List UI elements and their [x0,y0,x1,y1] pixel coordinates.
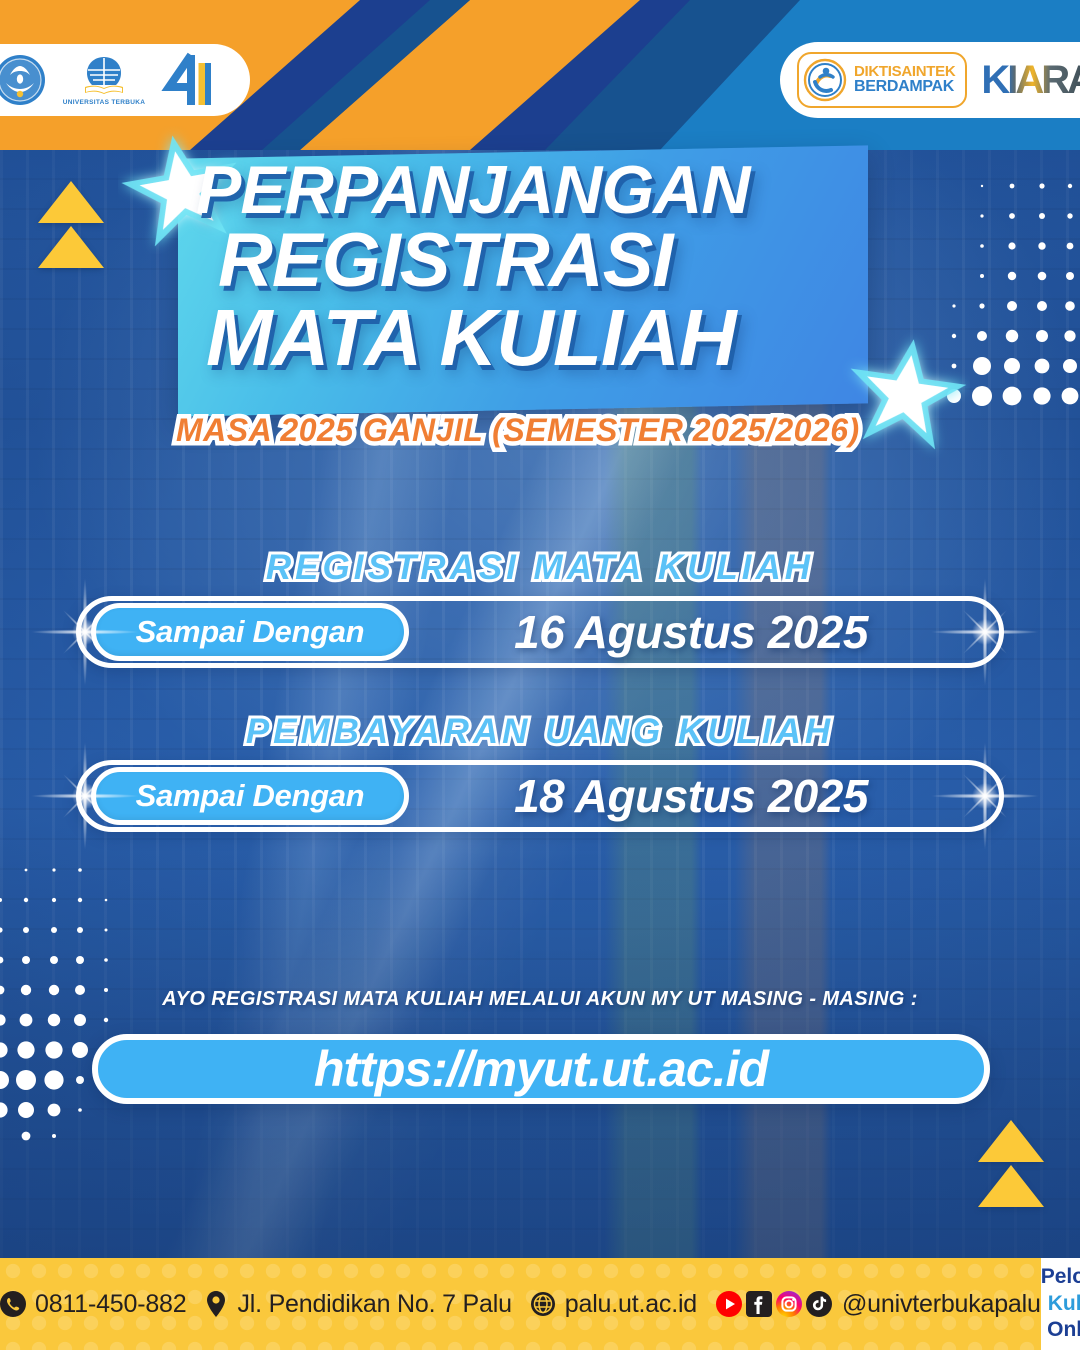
footer-address-text: Jl. Pendidikan No. 7 Palu [237,1290,511,1319]
headline: PERPANJANGAN REGISTRASI MATA KULIAH [196,158,876,377]
universitas-terbuka-caption: UNIVERSITAS TERBUKA [63,99,146,106]
kiara-wordmark: KIARA [981,58,1080,102]
tagline-line-3: Online [1047,1318,1080,1342]
footer-social: @univterbukapalu [715,1290,1041,1319]
triangle-decor-left-bottom [38,226,104,268]
section-heading-registrasi: REGISTRASI MATA KULIAH [0,548,1080,588]
headline-line-3: MATA KULIAH [206,300,876,377]
location-pin-icon [204,1290,228,1318]
diktisaintek-emblem-icon [803,58,847,102]
tiktok-icon[interactable] [805,1290,833,1318]
triangle-decor-left-top [38,181,104,223]
tagline-line-1: Pelopor [1041,1265,1080,1289]
diktisaintek-line1: DIKTISAINTEK [854,64,955,79]
headline-line-1: PERPANJANGAN [196,158,876,223]
globe-icon [530,1291,556,1317]
cta-url-text: https://myut.ut.ac.id [314,1040,768,1098]
tut-wuri-handayani-logo [0,53,47,107]
section-heading-pembayaran: PEMBAYARAN UANG KULIAH [0,712,1080,752]
footer-website-text: palu.ut.ac.id [565,1290,697,1319]
tagline-line-2: Kuliah [1048,1292,1080,1316]
universitas-terbuka-logo: UNIVERSITAS TERBUKA [63,54,146,106]
instagram-icon[interactable] [775,1290,803,1318]
subtitle: MASA 2025 GANJIL (SEMESTER 2025/2026) [176,412,896,449]
footer-address: Jl. Pendidikan No. 7 Palu [204,1290,511,1319]
social-icon-group [715,1290,833,1318]
phone-icon [0,1291,26,1317]
date-pembayaran: 18 Agustus 2025 [409,769,999,823]
triangle-decor-right-top [978,1120,1044,1162]
footer-phone-text: 0811-450-882 [35,1290,186,1319]
diktisaintek-berdampak-logo: DIKTISAINTEK BERDAMPAK [797,52,967,108]
badge-sampai-dengan-registrasi: Sampai Dengan [91,603,409,661]
facebook-icon[interactable] [745,1290,773,1318]
badge-sampai-dengan-pembayaran: Sampai Dengan [91,767,409,825]
footer-tagline: Pelopor Kuliah Online [1041,1258,1080,1350]
logo-plate-left: UNIVERSITAS TERBUKA [0,44,250,116]
footer-website[interactable]: palu.ut.ac.id [530,1290,697,1319]
poster-root: UNIVERSITAS TERBUKA DIKTISAINTEK BERDAMP… [0,0,1080,1350]
logo-plate-right: DIKTISAINTEK BERDAMPAK KIARA [780,42,1080,118]
headline-line-2: REGISTRASI [218,225,876,298]
triangle-decor-right-bottom [978,1165,1044,1207]
cta-url-pill[interactable]: https://myut.ut.ac.id [92,1034,990,1104]
date-row-registrasi: Sampai Dengan 16 Agustus 2025 [76,596,1004,668]
diktisaintek-line2: BERDAMPAK [854,79,955,95]
date-registrasi: 16 Agustus 2025 [409,605,999,659]
footer-contact-bar: 0811-450-882 Jl. Pendidikan No. 7 Palu [0,1258,1041,1350]
cta-note: AYO REGISTRASI MATA KULIAH MELALUI AKUN … [0,988,1080,1011]
kiara-logo: KIARA [981,58,1080,103]
footer-social-handle: @univterbukapalu [842,1290,1041,1319]
anniversary-41-logo [161,51,217,109]
youtube-icon[interactable] [715,1290,743,1318]
date-row-pembayaran: Sampai Dengan 18 Agustus 2025 [76,760,1004,832]
footer-phone[interactable]: 0811-450-882 [0,1290,186,1319]
footer: 0811-450-882 Jl. Pendidikan No. 7 Palu [0,1258,1080,1350]
